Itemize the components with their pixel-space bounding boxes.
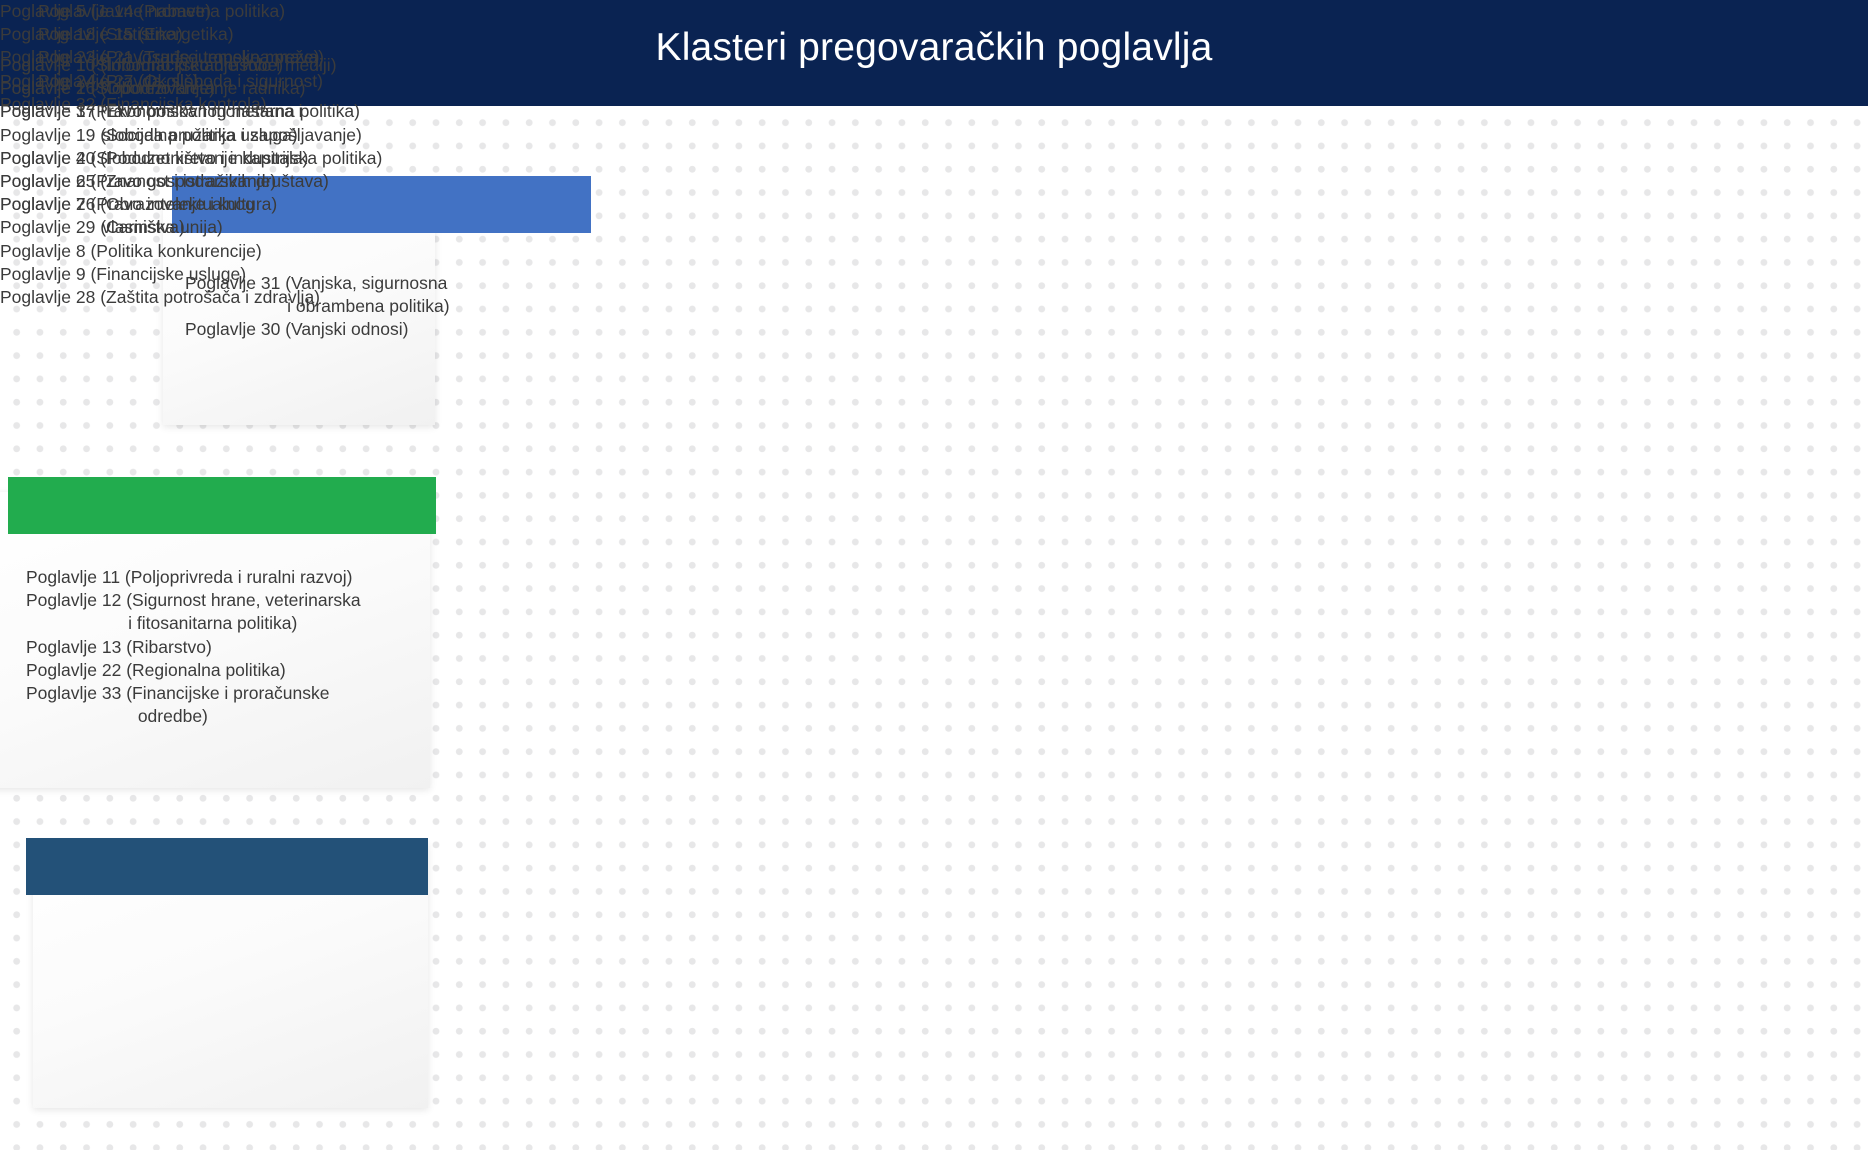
cluster3-chapter-list: Poglavlje 10 (Informacijsko društvo i me… [0, 54, 382, 240]
slide-canvas: Klasteri pregovaračkih poglavlja Poglavl… [0, 0, 1868, 1150]
cluster5-chapter-list: Poglavlje 11 (Poljoprivreda i ruralni ra… [26, 566, 456, 728]
cluster5-color-bar [8, 477, 436, 534]
cluster4-color-bar [26, 838, 428, 895]
